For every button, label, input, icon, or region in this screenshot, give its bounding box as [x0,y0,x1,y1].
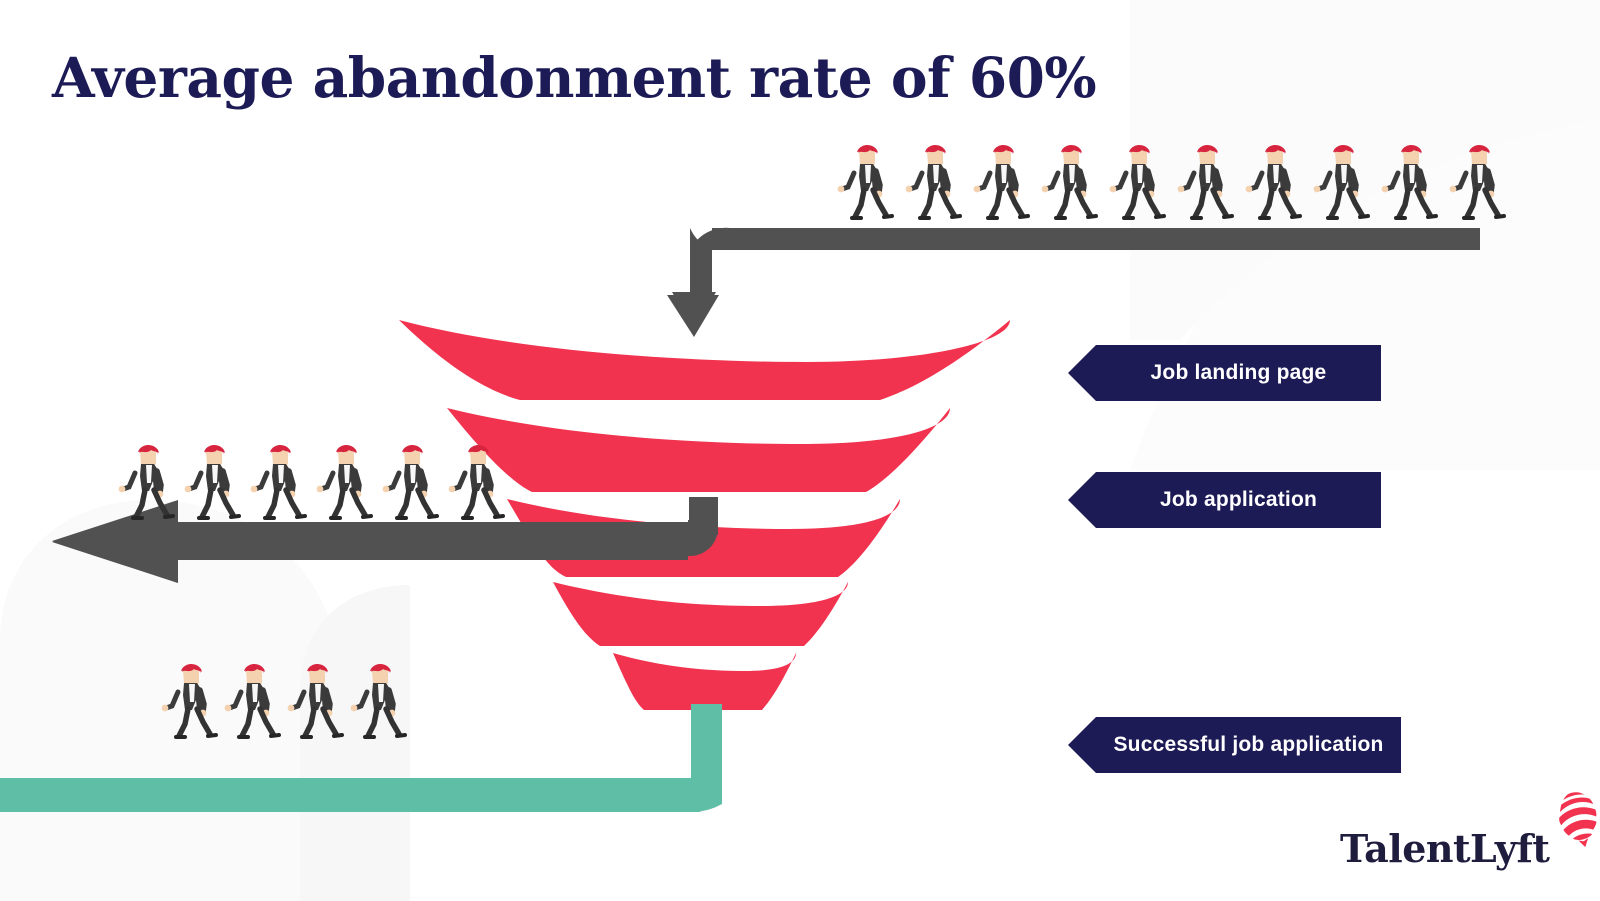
outflow-path-icon [0,778,700,812]
page-title: Average abandonment rate of 60% [52,48,1096,109]
infographic-canvas: Average abandonment rate of 60% Job land… [0,0,1600,901]
stage-label-job-application[interactable]: Job application [1068,472,1381,528]
flow-outflow [0,704,722,812]
stage-label-job-landing-page[interactable]: Job landing page [1068,345,1381,401]
people-row-top [838,145,1504,218]
funnel-segment-1 [399,320,1010,400]
balloon-icon [1551,788,1600,854]
funnel-segment-5 [613,653,796,710]
talentlyft-logo[interactable]: TalentLyft [1340,788,1600,868]
funnel-segment-4 [553,582,848,646]
flow-inflow [667,228,1480,340]
logo-wordmark: TalentLyft [1340,830,1549,868]
people-row-bottom [162,664,405,737]
funnel-segment-2 [447,408,950,492]
stage-label-successful-job-application[interactable]: Successful job application [1068,717,1401,773]
